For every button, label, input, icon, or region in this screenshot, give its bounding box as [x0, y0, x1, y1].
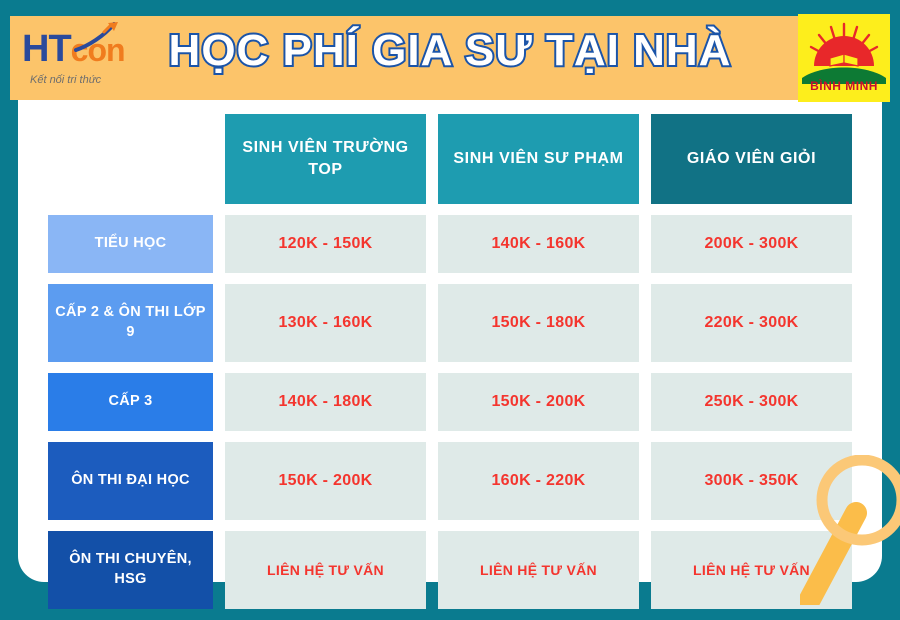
- swoosh-icon: [74, 22, 120, 52]
- row-label-2: CẤP 3: [48, 373, 213, 431]
- row-label-0: TIỂU HỌC: [48, 215, 213, 273]
- price-cell-3-0: 150K - 200K: [225, 442, 426, 520]
- price-cell-2-2: 250K - 300K: [651, 373, 852, 431]
- brand-logo: HTcon Kết nối tri thức: [22, 22, 142, 94]
- table-row: ÔN THI CHUYÊN, HSG LIÊN HỆ TƯ VẤN LIÊN H…: [48, 531, 852, 609]
- price-cell-2-1: 150K - 200K: [438, 373, 639, 431]
- price-cell-3-2: 300K - 350K: [651, 442, 852, 520]
- row-label-4: ÔN THI CHUYÊN, HSG: [48, 531, 213, 609]
- column-header-0: SINH VIÊN TRƯỜNG TOP: [225, 114, 426, 204]
- price-cell-0-1: 140K - 160K: [438, 215, 639, 273]
- table-row: CẤP 3 140K - 180K 150K - 200K 250K - 300…: [48, 373, 852, 431]
- column-header-2: GIÁO VIÊN GIỎI: [651, 114, 852, 204]
- pricing-table: SINH VIÊN TRƯỜNG TOP SINH VIÊN SƯ PHẠM G…: [48, 114, 852, 620]
- poster-root: HTcon Kết nối tri thức HỌC PHÍ GIA SƯ TẠ…: [0, 0, 900, 600]
- price-cell-2-0: 140K - 180K: [225, 373, 426, 431]
- table-row: CẤP 2 & ÔN THI LỚP 9 130K - 160K 150K - …: [48, 284, 852, 362]
- column-header-1: SINH VIÊN SƯ PHẠM: [438, 114, 639, 204]
- brand-tagline: Kết nối tri thức: [30, 74, 101, 86]
- table-header-row: SINH VIÊN TRƯỜNG TOP SINH VIÊN SƯ PHẠM G…: [48, 114, 852, 204]
- price-cell-4-0: LIÊN HỆ TƯ VẤN: [225, 531, 426, 609]
- price-cell-0-2: 200K - 300K: [651, 215, 852, 273]
- partner-logo: BÌNH MINH: [798, 14, 890, 102]
- price-cell-4-1: LIÊN HỆ TƯ VẤN: [438, 531, 639, 609]
- price-cell-1-0: 130K - 160K: [225, 284, 426, 362]
- table-corner-cell: [48, 114, 213, 204]
- price-cell-4-2: LIÊN HỆ TƯ VẤN: [651, 531, 852, 609]
- price-cell-1-1: 150K - 180K: [438, 284, 639, 362]
- price-cell-0-0: 120K - 150K: [225, 215, 426, 273]
- price-cell-3-1: 160K - 220K: [438, 442, 639, 520]
- table-row: TIỂU HỌC 120K - 150K 140K - 160K 200K - …: [48, 215, 852, 273]
- table-row: ÔN THI ĐẠI HỌC 150K - 200K 160K - 220K 3…: [48, 442, 852, 520]
- row-label-1: CẤP 2 & ÔN THI LỚP 9: [48, 284, 213, 362]
- brand-logo-ht: HT: [22, 28, 71, 70]
- page-title: HỌC PHÍ GIA SƯ TẠI NHÀ: [150, 26, 750, 76]
- partner-logo-name: BÌNH MINH: [798, 79, 890, 93]
- price-cell-1-2: 220K - 300K: [651, 284, 852, 362]
- row-label-3: ÔN THI ĐẠI HỌC: [48, 442, 213, 520]
